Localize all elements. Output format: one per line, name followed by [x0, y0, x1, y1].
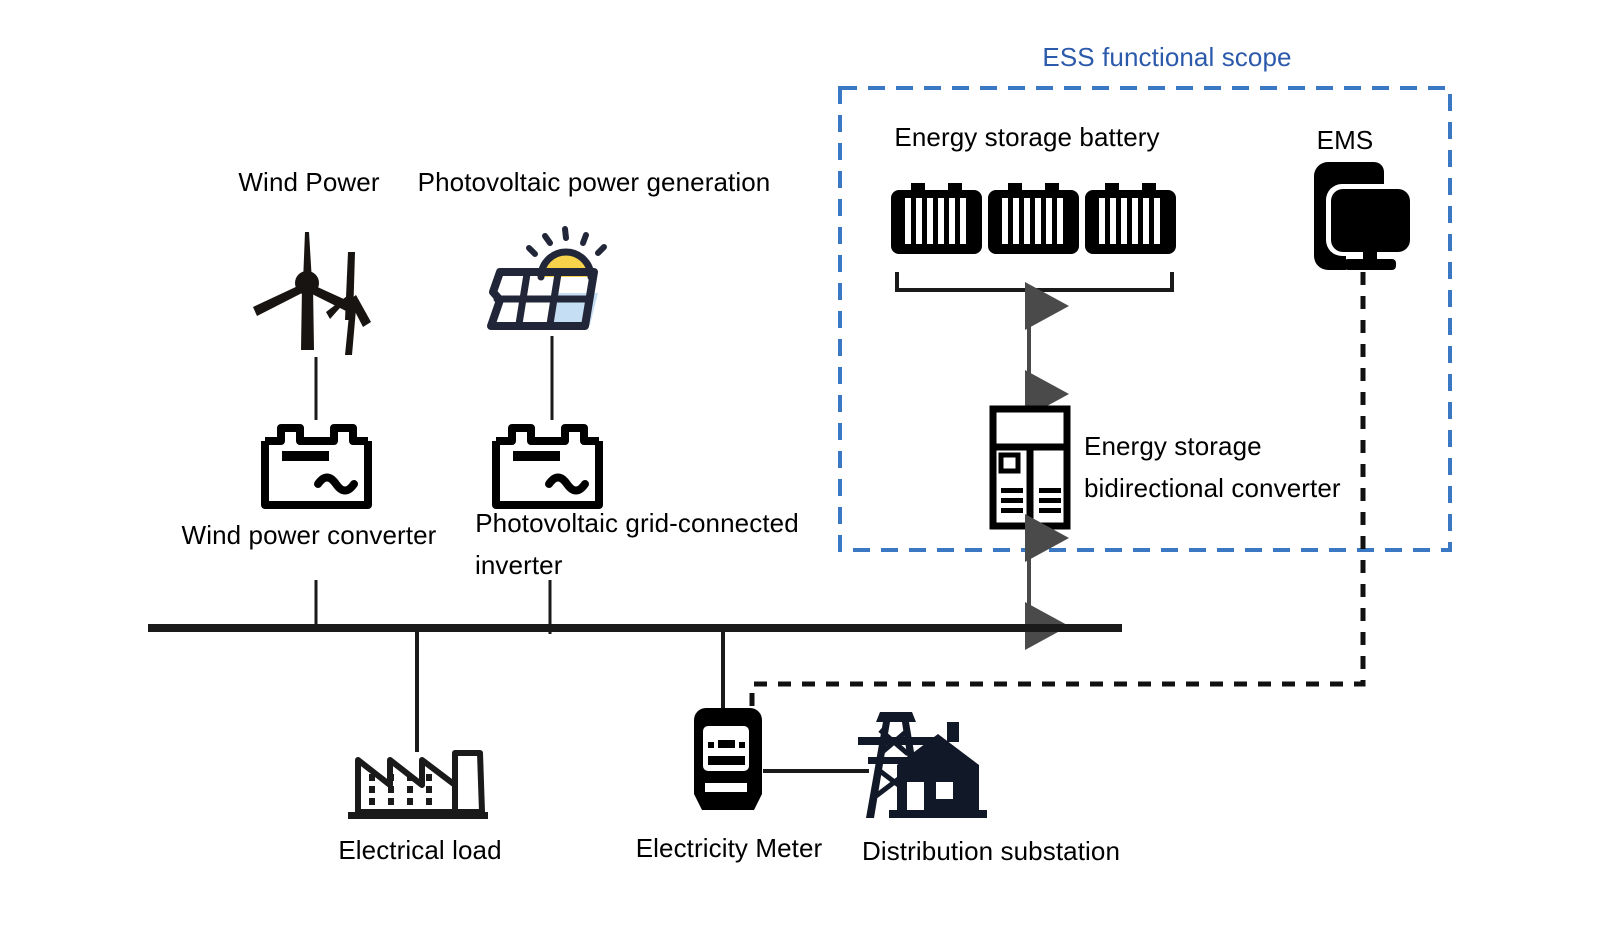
pv-grid-connected-inverter-label-line1: Photovoltaic grid-connected: [475, 508, 799, 539]
electricity-meter-label: Electricity Meter: [636, 833, 823, 864]
pylon-house-icon: [858, 712, 987, 818]
battery-group-bracket: [897, 272, 1172, 290]
photovoltaic-power-generation-label: Photovoltaic power generation: [418, 167, 771, 198]
wind-power-converter-label: Wind power converter: [182, 520, 437, 551]
converter-box-icon: [265, 428, 368, 505]
solar-panel-icon: [491, 229, 604, 326]
wind-power-label: Wind Power: [238, 167, 379, 198]
bidirectional-converter-label-line2: bidirectional converter: [1084, 473, 1341, 504]
ems-label: EMS: [1317, 125, 1374, 156]
bidirectional-converter-label-line1: Energy storage: [1084, 431, 1262, 462]
battery-module-icon: [891, 183, 1176, 254]
pv-grid-connected-inverter-label-line2: inverter: [475, 550, 563, 581]
ess-scope-title: ESS functional scope: [1042, 42, 1291, 73]
cabinet-converter-icon: [993, 409, 1067, 526]
inverter-box-icon: [496, 428, 599, 505]
electric-meter-icon: [694, 708, 762, 810]
computer-monitor-icon: [1314, 162, 1410, 270]
distribution-substation-label: Distribution substation: [862, 836, 1120, 867]
factory-icon: [348, 753, 488, 819]
wind-turbine-icon: [253, 232, 371, 355]
energy-storage-battery-label: Energy storage battery: [894, 122, 1159, 153]
electrical-load-label: Electrical load: [338, 835, 501, 866]
ac-bus-bar: [148, 624, 1122, 632]
diagram-canvas: ESS functional scope Wind Power Photovol…: [0, 0, 1599, 926]
